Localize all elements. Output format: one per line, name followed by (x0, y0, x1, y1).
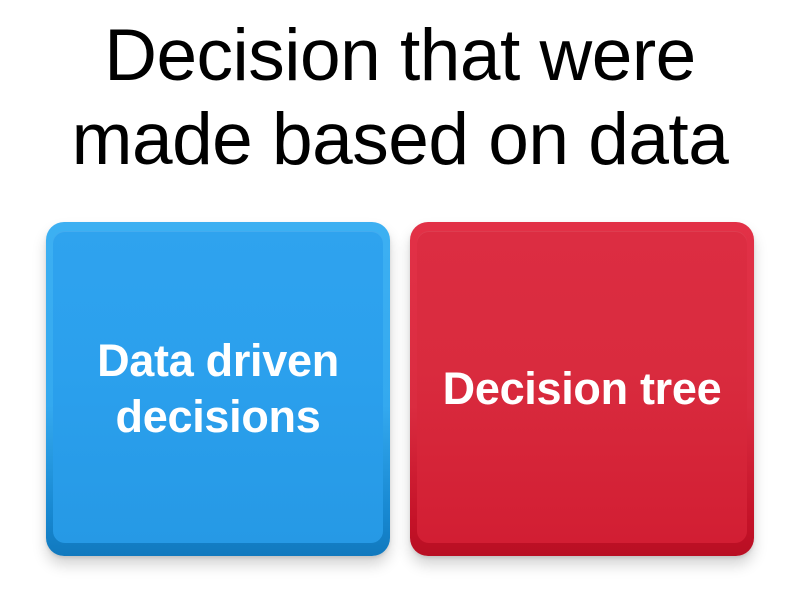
question-text: Decision that were made based on data (0, 14, 800, 182)
answer-card-left-face (53, 231, 383, 543)
answer-card-left-body (46, 222, 390, 556)
question-area: Decision that were made based on data (0, 14, 800, 182)
answer-cards-row: Data driven decisions Decision tree (0, 220, 800, 560)
answer-card-right-body (410, 222, 754, 556)
answer-card-left[interactable]: Data driven decisions (46, 222, 390, 556)
quiz-screen: Decision that were made based on data Da… (0, 0, 800, 600)
answer-card-right[interactable]: Decision tree (410, 222, 754, 556)
answer-card-right-face (417, 231, 747, 543)
